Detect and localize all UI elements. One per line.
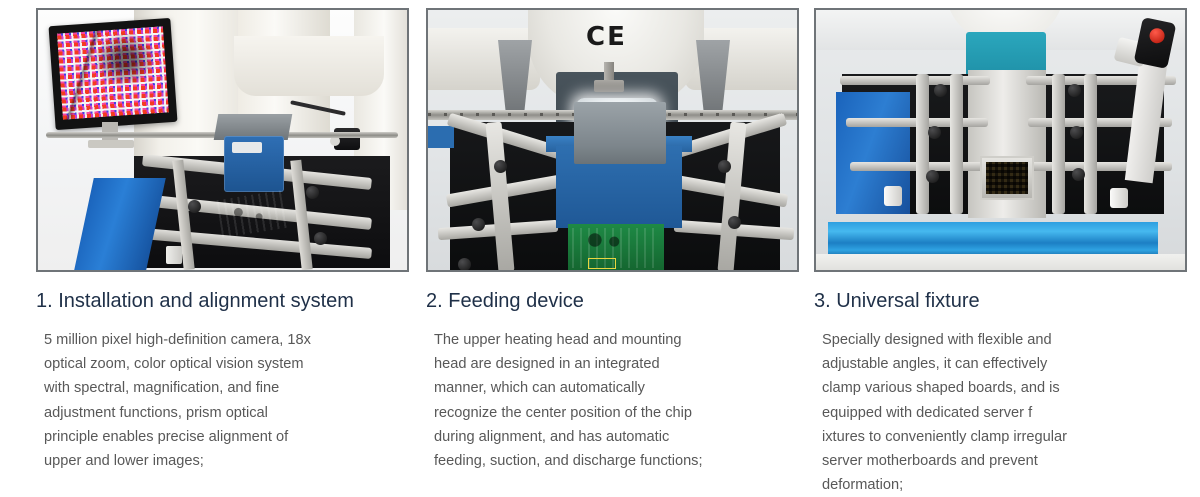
photo-scene-universal-fixture [816,10,1185,270]
fixture-cross-bar [1084,74,1097,214]
emergency-stop-button-icon [1148,27,1166,45]
card-heading-3: 3. Universal fixture [814,288,1194,314]
clamp-knob [1072,168,1085,181]
clamp-knob [188,200,201,213]
ce-mark-label: CE [586,22,627,52]
body-line: with spectral, magnification, and fine [44,376,392,400]
body-line: during alignment, and has automatic [434,425,782,449]
clamp-knob [728,216,741,229]
clamp-knob [1070,126,1083,139]
card-heading-2: 2. Feeding device [426,288,806,314]
body-line: The upper heating head and mounting [434,328,782,352]
adjust-knob-white [884,186,902,206]
clamp-knob [1068,84,1081,97]
alignment-target-box [588,258,616,269]
vision-monitor [49,18,178,130]
clamp-knob [718,160,731,173]
mounting-head [224,136,284,192]
blue-conveyor-corner [428,126,454,148]
feature-card-1: CE [36,0,416,497]
photo-scene-alignment-system: CE [38,10,407,270]
fixture-arm [840,76,990,85]
blue-anodized-support-bar [828,222,1158,258]
machine-gantry [234,36,384,96]
feature-card-2: CE [426,0,806,497]
vision-screen-bga-image [57,26,169,119]
body-line: 5 million pixel high-definition camera, … [44,328,392,352]
body-line: principle enables precise alignment of [44,425,392,449]
feature-card-3: 3. Universal fixture Specially designed … [814,0,1194,497]
body-line: clamp various shaped boards, and is [822,376,1170,400]
body-line: recognize the center position of the chi… [434,401,782,425]
product-photo-1: CE [36,8,409,272]
body-line: ixtures to conveniently clamp irregular [822,425,1170,449]
body-line: Specially designed with flexible and [822,328,1170,352]
fixture-cross-bar [1052,74,1065,214]
machine-base [816,254,1185,270]
card-body-1: 5 million pixel high-definition camera, … [44,328,392,473]
adjust-knob-white [1110,188,1128,208]
clamp-knob [926,170,939,183]
clamp-knob [306,186,319,199]
body-line: feeding, suction, and discharge function… [434,449,782,473]
monitor-base [88,140,134,148]
body-line: head are designed in an integrated [434,352,782,376]
feature-cards-page: CE [0,0,1200,497]
clamp-knob [934,84,947,97]
body-line: equipped with dedicated server f [822,401,1170,425]
card-body-3: Specially designed with flexible and adj… [822,328,1170,497]
clamp-knob [458,258,471,270]
body-line: server motherboards and prevent [822,449,1170,473]
card-body-2: The upper heating head and mounting head… [434,328,782,473]
clamp-knob [494,160,507,173]
grey-heating-pad [574,102,666,164]
fixture-cross-bar [950,74,963,214]
body-line: adjustable angles, it can effectively [822,352,1170,376]
body-line: optical zoom, color optical vision syste… [44,352,392,376]
clamp-knob [928,126,941,139]
white-cup [166,246,182,264]
chip-tray [980,156,1034,200]
photo-scene-feeding-device: CE [428,10,797,270]
card-heading-1: 1. Installation and alignment system [36,288,416,314]
fixture-cross-bar [916,74,929,214]
nozzle-tip [594,80,624,92]
product-photo-2: CE [426,8,799,272]
clamp-knob [314,232,327,245]
head-window [232,142,262,153]
product-photo-3 [814,8,1187,272]
chip-component [986,162,1028,194]
body-line: upper and lower images; [44,449,392,473]
body-line: adjustment functions, prism optical [44,401,392,425]
body-line: deformation; [822,473,1170,497]
clamp-knob [472,218,485,231]
green-pcb [568,224,664,270]
body-line: manner, which can automatically [434,376,782,400]
